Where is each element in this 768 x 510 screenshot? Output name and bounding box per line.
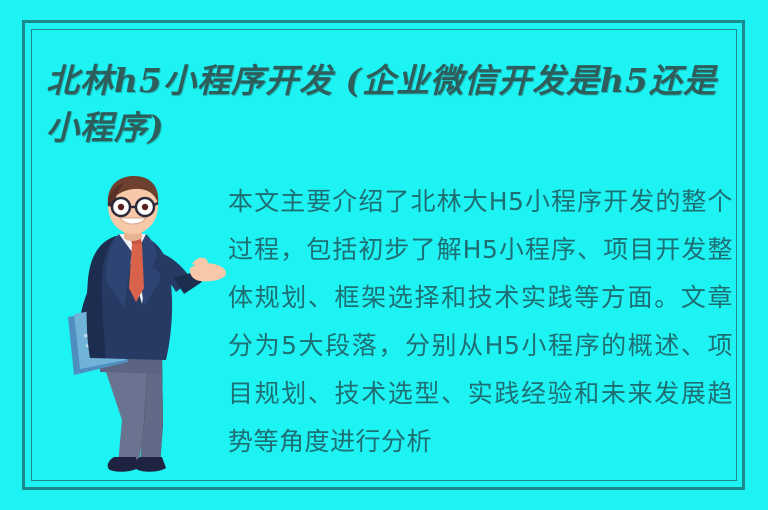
- figure-hand: [190, 258, 226, 282]
- figure-head: [108, 176, 158, 234]
- article-body: 本文主要介绍了北林大H5小程序开发的整个过程，包括初步了解H5小程序、项目开发整…: [228, 178, 733, 470]
- figure-trousers: [100, 354, 163, 464]
- illustration-businessman: [62, 176, 230, 472]
- poster-canvas: 北林h5小程序开发 (企业微信开发是h5还是小程序): [0, 0, 768, 510]
- page-title: 北林h5小程序开发 (企业微信开发是h5还是小程序): [46, 57, 724, 151]
